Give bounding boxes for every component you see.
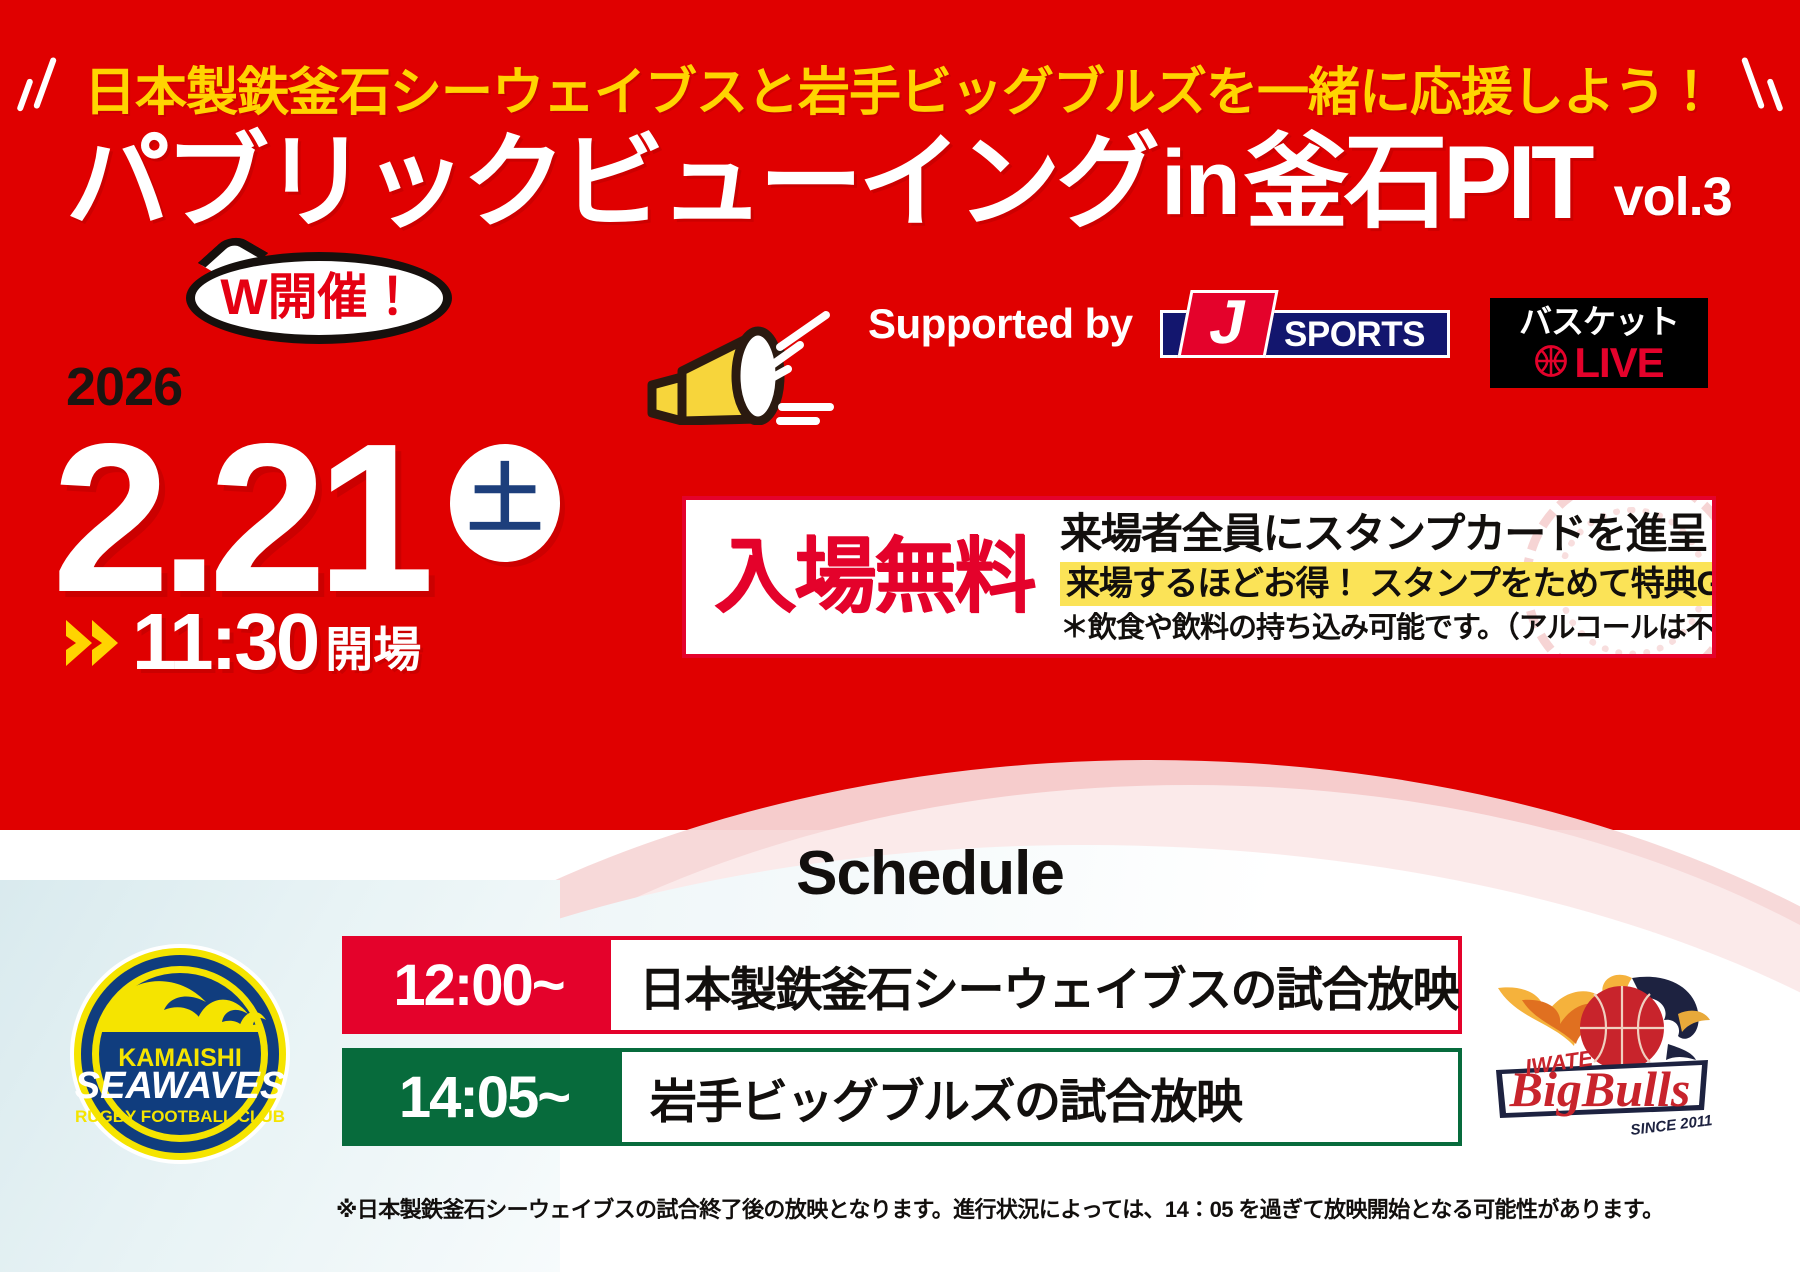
iwate-bigbulls-logo: IWATE BigBulls SINCE 2011 — [1482, 948, 1722, 1148]
poster-canvas: 日本製鉄釜石シーウェイブスと岩手ビッグブルズを一緒に応援しよう！ パブリックビュ… — [0, 0, 1800, 1272]
schedule-table: 12:00~ 日本製鉄釜石シーウェイブスの試合放映 14:05~ 岩手ビッグブル… — [342, 936, 1462, 1160]
tagline-row: 日本製鉄釜石シーウェイブスと岩手ビッグブルズを一緒に応援しよう！ — [0, 48, 1800, 126]
table-row: 14:05~ 岩手ビッグブルズの試合放映 — [342, 1048, 1462, 1146]
jsports-wordmark: SPORTS — [1284, 312, 1446, 358]
table-row: 12:00~ 日本製鉄釜石シーウェイブスの試合放映 — [342, 936, 1462, 1034]
admission-info-box: 入場無料 来場者全員にスタンプカードを進呈 来場するほどお得！ スタンプをためて… — [682, 496, 1716, 658]
jsports-j-letter: J — [1177, 290, 1278, 358]
supported-by-block: Supported by — [868, 296, 1133, 352]
stampcard-highlight: 来場するほどお得！ スタンプをためて特典GET！ — [1060, 562, 1716, 606]
seawaves-line2: SEAWAVES — [75, 1065, 285, 1107]
jsports-logo: J SPORTS — [1160, 290, 1450, 360]
basketlive-bottom-row: LIVE — [1490, 342, 1708, 384]
page-title: パブリックビューイング in 釜石PIT vol.3 — [66, 122, 1766, 238]
basketlive-top-text: バスケット — [1490, 304, 1708, 340]
seawaves-line3: RUGBY FOOTBALL CLUB — [75, 1107, 285, 1126]
schedule-time: 14:05~ — [346, 1052, 622, 1142]
schedule-heading-text: Schedule — [796, 838, 1064, 909]
stampcard-headline: 来場者全員にスタンプカードを進呈 — [1060, 511, 1716, 557]
title-main-text: パブリックビューイング — [66, 128, 1155, 238]
bigbulls-line2: BigBulls — [1509, 1061, 1691, 1117]
basketball-icon — [1534, 344, 1568, 383]
weekday-label: 土 — [467, 463, 543, 543]
admission-details: 来場者全員にスタンプカードを進呈 来場するほどお得！ スタンプをためて特典GET… — [1050, 511, 1716, 644]
slash-right-icon — [1734, 52, 1788, 122]
event-date: 2.21 — [52, 412, 425, 624]
food-drink-note: ＊飲食や飲料の持ち込み可能です。（アルコールは不可） — [1060, 612, 1716, 644]
double-chevron-right-icon — [62, 612, 126, 674]
kamaishi-seawaves-logo: KAMAISHI SEAWAVES RUGBY FOOTBALL CLUB — [66, 940, 294, 1168]
open-time-block: 11:30 開場 — [62, 600, 421, 680]
slash-left-icon — [12, 52, 66, 122]
basketlive-live-text: LIVE — [1574, 342, 1663, 384]
schedule-footnote: ※日本製鉄釜石シーウェイブスの試合終了後の放映となります。進行状況によっては、1… — [336, 1192, 1536, 1224]
admission-info-inner: 入場無料 来場者全員にスタンプカードを進呈 来場するほどお得！ スタンプをためて… — [686, 500, 1712, 654]
tagline-text: 日本製鉄釜石シーウェイブスと岩手ビッグブルズを一緒に応援しよう！ — [84, 50, 1716, 125]
open-time-value: 11:30 — [132, 604, 317, 680]
megaphone-icon — [630, 295, 850, 425]
double-event-badge: W開催！ — [186, 252, 452, 344]
schedule-heading: Schedule — [0, 838, 1800, 909]
double-event-badge-label: W開催！ — [220, 272, 417, 325]
supported-by-label: Supported by — [868, 300, 1133, 348]
open-time-label: 開場 — [325, 622, 421, 680]
schedule-time: 12:00~ — [346, 940, 611, 1030]
title-venue-text: 釜石PIT — [1245, 128, 1590, 238]
title-volume-text: vol.3 — [1614, 166, 1732, 238]
basketlive-logo: バスケット LIVE — [1490, 298, 1708, 388]
schedule-description: 岩手ビッグブルズの試合放映 — [622, 1052, 1458, 1142]
title-in-text: in — [1155, 128, 1245, 238]
free-admission-text: 入場無料 — [694, 534, 1050, 620]
weekday-badge: 土 — [450, 444, 560, 562]
schedule-description: 日本製鉄釜石シーウェイブスの試合放映 — [611, 940, 1458, 1030]
